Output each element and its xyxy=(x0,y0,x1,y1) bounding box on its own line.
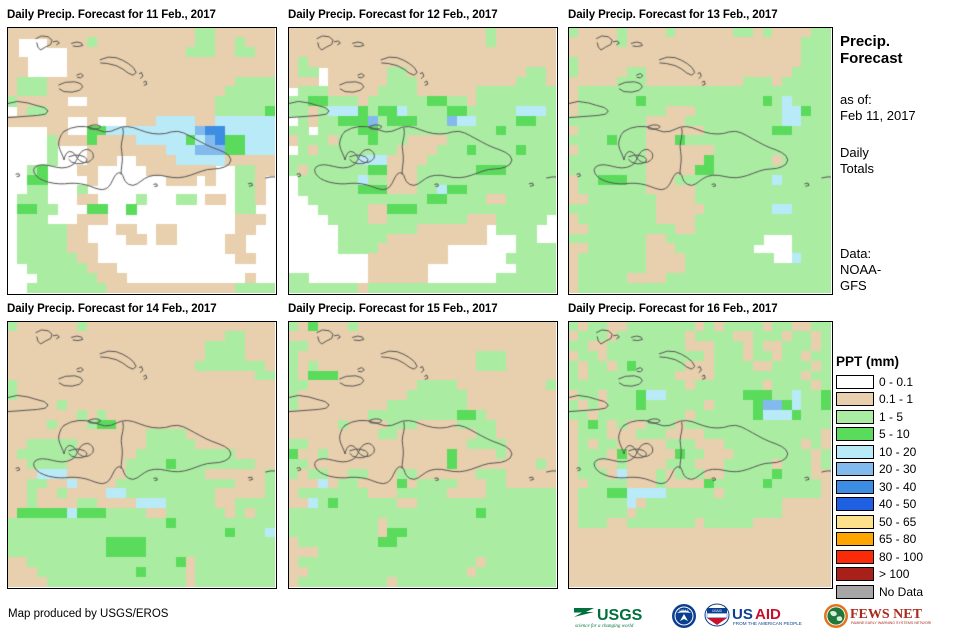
legend-row: 0 - 0.1 xyxy=(836,373,923,391)
legend-row: 5 - 10 xyxy=(836,426,923,444)
data-label: Data: xyxy=(840,246,966,262)
legend-row: 1 - 5 xyxy=(836,408,923,426)
legend-row: 30 - 40 xyxy=(836,478,923,496)
panel-title-4: Daily Precip. Forecast for 14 Feb., 2017 xyxy=(7,302,277,316)
map-frame-3[interactable] xyxy=(568,27,833,295)
svg-text:FAMINE EARLY WARNING SYSTEMS N: FAMINE EARLY WARNING SYSTEMS NETWORK xyxy=(851,621,931,625)
precip-heatmap-3[interactable] xyxy=(569,28,831,293)
data-source-line1: NOAA- xyxy=(840,262,966,278)
map-frame-4[interactable] xyxy=(7,321,277,589)
legend-label: No Data xyxy=(879,585,923,599)
forecast-panel-1: Daily Precip. Forecast for 11 Feb., 2017 xyxy=(7,8,277,295)
legend-swatch xyxy=(836,427,874,441)
svg-text:USGS: USGS xyxy=(597,607,643,624)
legend-swatch xyxy=(836,497,874,511)
legend-swatch xyxy=(836,550,874,564)
legend-swatch xyxy=(836,532,874,546)
legend-row: 20 - 30 xyxy=(836,461,923,479)
panel-title-2: Daily Precip. Forecast for 12 Feb., 2017 xyxy=(288,8,558,22)
svg-text:USAID: USAID xyxy=(712,609,722,613)
legend-swatch xyxy=(836,410,874,424)
svg-text:FROM THE AMERICAN PEOPLE: FROM THE AMERICAN PEOPLE xyxy=(733,621,802,626)
map-frame-1[interactable] xyxy=(7,27,277,295)
map-frame-5[interactable] xyxy=(288,321,558,589)
map-frame-6[interactable] xyxy=(568,321,833,589)
panel-title-6: Daily Precip. Forecast for 16 Feb., 2017 xyxy=(568,302,833,316)
legend-swatch xyxy=(836,480,874,494)
legend-swatch xyxy=(836,585,874,599)
legend-swatch xyxy=(836,375,874,389)
legend-row: 80 - 100 xyxy=(836,548,923,566)
precip-heatmap-6[interactable] xyxy=(569,322,831,587)
legend-label: 40 - 50 xyxy=(879,497,916,511)
totals-line1: Daily xyxy=(840,145,966,161)
legend-swatch xyxy=(836,515,874,529)
legend-label: 0.1 - 1 xyxy=(879,392,913,406)
precip-heatmap-4[interactable] xyxy=(8,322,275,587)
sidebar-title-line2: Forecast xyxy=(840,50,966,67)
map-credit: Map produced by USGS/EROS xyxy=(8,608,168,620)
sidebar-asof: as of: Feb 11, 2017 xyxy=(840,92,966,124)
legend-label: 50 - 65 xyxy=(879,515,916,529)
map-figure: Daily Precip. Forecast for 11 Feb., 2017… xyxy=(0,0,970,635)
forecast-panel-6: Daily Precip. Forecast for 16 Feb., 2017 xyxy=(568,302,833,589)
legend-label: 0 - 0.1 xyxy=(879,375,913,389)
forecast-panel-4: Daily Precip. Forecast for 14 Feb., 2017 xyxy=(7,302,277,589)
legend-swatch xyxy=(836,462,874,476)
legend-row: 40 - 50 xyxy=(836,496,923,514)
legend-row: 65 - 80 xyxy=(836,531,923,549)
panel-title-3: Daily Precip. Forecast for 13 Feb., 2017 xyxy=(568,8,833,22)
legend-title: PPT (mm) xyxy=(836,354,923,369)
svg-text:NOAA: NOAA xyxy=(679,609,689,613)
svg-text:science for a changing world: science for a changing world xyxy=(575,624,634,629)
forecast-panel-5: Daily Precip. Forecast for 15 Feb., 2017 xyxy=(288,302,558,589)
legend-label: 65 - 80 xyxy=(879,532,916,546)
forecast-panel-3: Daily Precip. Forecast for 13 Feb., 2017 xyxy=(568,8,833,295)
agency-logos: USGS science for a changing world NOAA U… xyxy=(572,601,931,631)
totals-line2: Totals xyxy=(840,161,966,177)
legend-swatch xyxy=(836,567,874,581)
sidebar-title-line1: Precip. xyxy=(840,33,966,50)
sidebar-totals: Daily Totals xyxy=(840,145,966,177)
map-frame-2[interactable] xyxy=(288,27,558,295)
legend-swatch xyxy=(836,445,874,459)
legend-swatch xyxy=(836,392,874,406)
legend-label: 5 - 10 xyxy=(879,427,910,441)
sidebar-data-source: Data: NOAA- GFS xyxy=(840,246,966,294)
legend-row: 0.1 - 1 xyxy=(836,391,923,409)
legend-label: 80 - 100 xyxy=(879,550,923,564)
asof-date: Feb 11, 2017 xyxy=(840,108,966,124)
forecast-panel-2: Daily Precip. Forecast for 12 Feb., 2017 xyxy=(288,8,558,295)
data-source-line2: GFS xyxy=(840,278,966,294)
panel-title-1: Daily Precip. Forecast for 11 Feb., 2017 xyxy=(7,8,277,22)
legend: PPT (mm) 0 - 0.10.1 - 11 - 55 - 1010 - 2… xyxy=(836,354,923,601)
svg-text:FEWS NET: FEWS NET xyxy=(850,607,923,622)
asof-label: as of: xyxy=(840,92,966,108)
usaid-logo[interactable]: USAID US AID FROM THE AMERICAN PEOPLE xyxy=(704,601,816,631)
legend-label: 30 - 40 xyxy=(879,480,916,494)
legend-row: > 100 xyxy=(836,566,923,584)
legend-row: 50 - 65 xyxy=(836,513,923,531)
legend-row: No Data xyxy=(836,583,923,601)
legend-label: > 100 xyxy=(879,567,909,581)
legend-label: 20 - 30 xyxy=(879,462,916,476)
precip-heatmap-2[interactable] xyxy=(289,28,556,293)
legend-label: 1 - 5 xyxy=(879,410,903,424)
legend-label: 10 - 20 xyxy=(879,445,916,459)
panel-title-5: Daily Precip. Forecast for 15 Feb., 2017 xyxy=(288,302,558,316)
precip-heatmap-5[interactable] xyxy=(289,322,556,587)
legend-items: 0 - 0.10.1 - 11 - 55 - 1010 - 2020 - 303… xyxy=(836,373,923,601)
precip-heatmap-1[interactable] xyxy=(8,28,275,293)
legend-row: 10 - 20 xyxy=(836,443,923,461)
fewsnet-logo[interactable]: FEWS NET FAMINE EARLY WARNING SYSTEMS NE… xyxy=(823,601,931,631)
noaa-logo[interactable]: NOAA xyxy=(671,601,697,631)
usgs-logo[interactable]: USGS science for a changing world xyxy=(572,601,664,631)
sidebar-header: Precip. Forecast xyxy=(840,33,966,67)
